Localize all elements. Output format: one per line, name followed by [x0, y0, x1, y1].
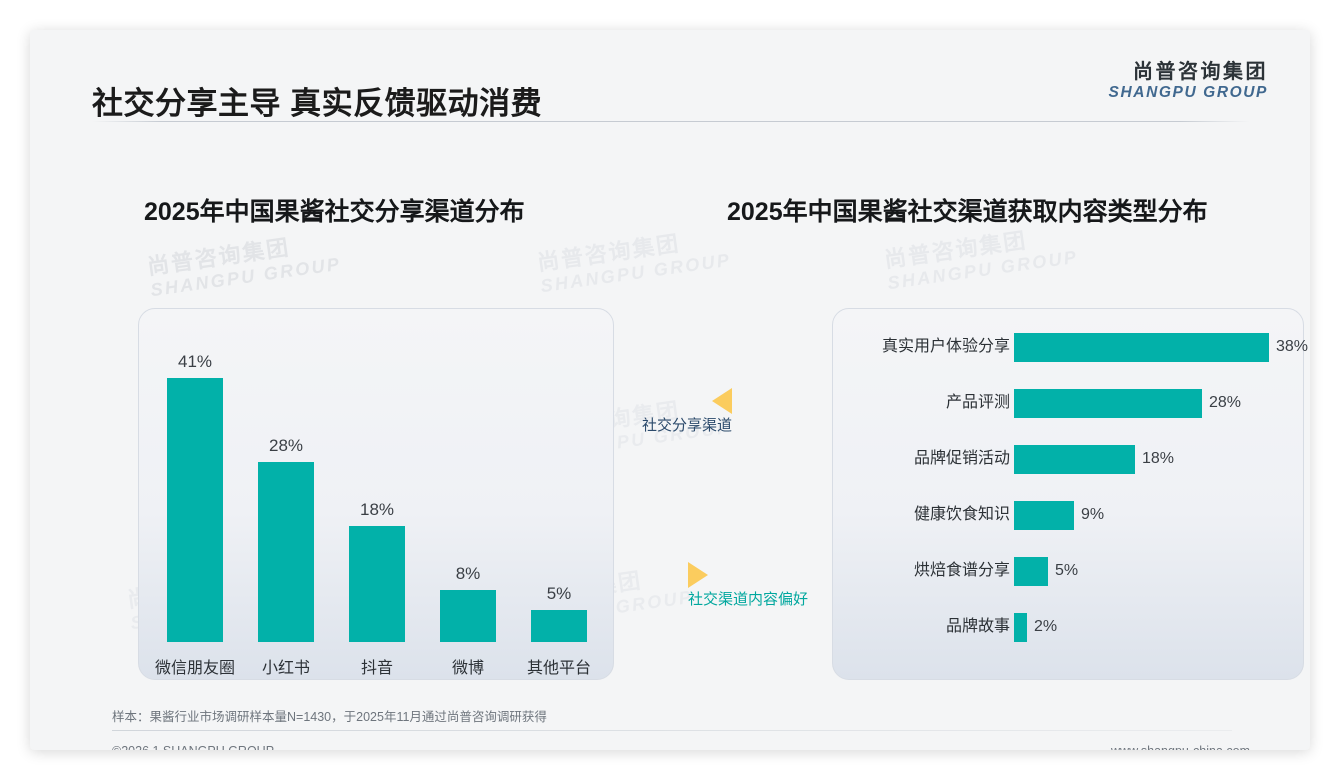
watermark-chinese: 尚普咨询集团: [146, 229, 340, 280]
horizontal-bar: [1014, 445, 1135, 474]
bar-category-label: 其他平台: [508, 654, 610, 678]
vertical-bar: [349, 526, 405, 642]
bar-value-label: 8%: [423, 564, 513, 584]
watermark-english: SHANGPU GROUP: [886, 246, 1079, 293]
bar-category-label: 微博: [417, 654, 519, 678]
middle-label-content-preference: 社交渠道内容偏好: [688, 588, 808, 609]
middle-annotation-social-share: 社交分享渠道: [612, 388, 732, 434]
triangle-right-icon: [688, 562, 708, 588]
triangle-left-icon: [712, 388, 732, 414]
bar-value-label: 18%: [1142, 440, 1174, 478]
slide-header: 社交分享主导 真实反馈驱动消费 尚普咨询集团 SHANGPU GROUP: [30, 30, 1310, 122]
watermark: 尚普咨询集团 SHANGPU GROUP: [883, 222, 1080, 293]
vertical-bar: [531, 610, 587, 642]
bar-category-label: 小红书: [235, 654, 337, 678]
content-type-bar-chart: 真实用户体验分享38%产品评测28%品牌促销活动18%健康饮食知识9%烘焙食谱分…: [832, 318, 1304, 668]
bar-value-label: 9%: [1081, 496, 1104, 534]
header-divider: [92, 121, 1250, 122]
left-chart-title: 2025年中国果酱社交分享渠道分布: [144, 192, 525, 228]
logo-english-text: SHANGPU GROUP: [1109, 85, 1268, 101]
horizontal-bar-row: 品牌促销活动18%: [832, 440, 1304, 478]
bar-category-label: 品牌促销活动: [832, 440, 1010, 478]
vertical-bar: [258, 462, 314, 642]
bar-category-label: 真实用户体验分享: [832, 328, 1010, 366]
bar-value-label: 18%: [332, 500, 422, 520]
bar-category-label: 抖音: [326, 654, 428, 678]
slide-canvas: 社交分享主导 真实反馈驱动消费 尚普咨询集团 SHANGPU GROUP 尚普咨…: [30, 30, 1310, 750]
bar-category-label: 微信朋友圈: [144, 654, 246, 678]
watermark-chinese: 尚普咨询集团: [536, 225, 730, 276]
horizontal-bar: [1014, 613, 1027, 642]
bar-value-label: 2%: [1034, 608, 1057, 646]
bar-value-label: 38%: [1276, 328, 1308, 366]
vertical-bar-group: 41%微信朋友圈: [150, 342, 240, 642]
right-chart-title: 2025年中国果酱社交渠道获取内容类型分布: [727, 192, 1208, 228]
bar-category-label: 烘焙食谱分享: [832, 552, 1010, 590]
slide-footer: ©2026.1 SHANGPU GROUP www.shangpu-china.…: [30, 730, 1310, 750]
website-url: www.shangpu-china.com: [1111, 744, 1250, 750]
vertical-bar-group: 5%其他平台: [514, 342, 604, 642]
page-title: 社交分享主导 真实反馈驱动消费: [92, 78, 542, 123]
copyright-text: ©2026.1 SHANGPU GROUP: [112, 744, 274, 750]
watermark-chinese: 尚普咨询集团: [883, 222, 1077, 273]
bar-value-label: 28%: [241, 436, 331, 456]
horizontal-bar-row: 健康饮食知识9%: [832, 496, 1304, 534]
vertical-bar: [167, 378, 223, 642]
vertical-bar-group: 18%抖音: [332, 342, 422, 642]
sample-footnote: 样本：果酱行业市场调研样本量N=1430，于2025年11月通过尚普咨询调研获得: [112, 706, 547, 725]
bar-value-label: 28%: [1209, 384, 1241, 422]
vertical-bar: [440, 590, 496, 642]
horizontal-bar: [1014, 501, 1074, 530]
vertical-bar-group: 8%微博: [423, 342, 513, 642]
bar-category-label: 健康饮食知识: [832, 496, 1010, 534]
brand-logo: 尚普咨询集团 SHANGPU GROUP: [1109, 62, 1268, 101]
bar-value-label: 5%: [514, 584, 604, 604]
vertical-bar-group: 28%小红书: [241, 342, 331, 642]
horizontal-bar: [1014, 389, 1202, 418]
bar-value-label: 5%: [1055, 552, 1078, 590]
logo-chinese-text: 尚普咨询集团: [1109, 62, 1268, 82]
horizontal-bar: [1014, 333, 1269, 362]
watermark-english: SHANGPU GROUP: [539, 249, 732, 296]
watermark: 尚普咨询集团 SHANGPU GROUP: [536, 225, 733, 296]
bar-category-label: 产品评测: [832, 384, 1010, 422]
middle-annotation-content-preference: 社交渠道内容偏好: [688, 562, 848, 608]
bar-value-label: 41%: [150, 352, 240, 372]
horizontal-bar-row: 真实用户体验分享38%: [832, 328, 1304, 366]
middle-label-social-share: 社交分享渠道: [642, 414, 732, 435]
horizontal-bar-row: 产品评测28%: [832, 384, 1304, 422]
watermark: 尚普咨询集团 SHANGPU GROUP: [146, 229, 343, 300]
social-share-channel-bar-chart: 41%微信朋友圈28%小红书18%抖音8%微博5%其他平台: [138, 292, 614, 642]
horizontal-bar-row: 品牌故事2%: [832, 608, 1304, 646]
horizontal-bar: [1014, 557, 1048, 586]
horizontal-bar-row: 烘焙食谱分享5%: [832, 552, 1304, 590]
bar-category-label: 品牌故事: [832, 608, 1010, 646]
